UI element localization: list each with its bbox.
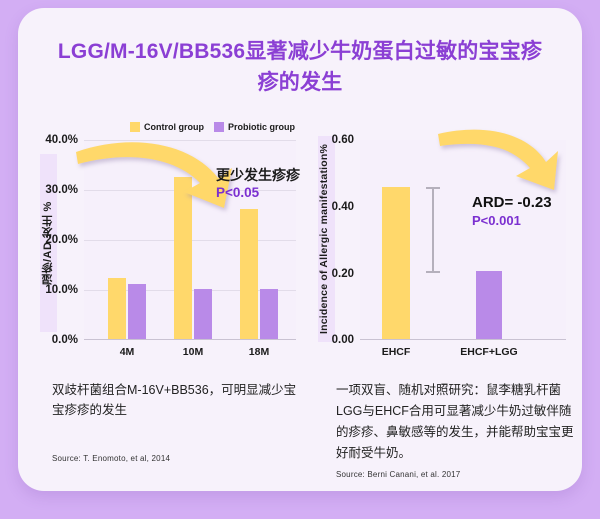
bar-control-4m [108, 278, 126, 339]
right-chart-panel: Incidence of Allergic manifestation% 0.0… [314, 120, 570, 370]
right-annotation-line1: ARD= -0.23 [472, 194, 552, 212]
right-y-axis-label: Incidence of Allergic manifestation% [318, 136, 335, 342]
y-tick-label: 0.40 [332, 201, 354, 213]
info-card: LGG/M-16V/BB536显著减少牛奶蛋白过敏的宝宝疹疹的发生 Contro… [18, 8, 582, 491]
x-axis-line [360, 339, 566, 340]
difference-bar-line [432, 187, 434, 273]
x-tick-label: EHCF [382, 346, 411, 358]
bar-ehcf [382, 187, 410, 339]
right-annotation-line2: P<0.001 [472, 212, 552, 229]
bar-ehcf-lgg [476, 271, 502, 339]
y-tick-label: 10.0% [45, 284, 78, 296]
y-tick-label: 0.00 [332, 334, 354, 346]
bar-control-18m [240, 209, 258, 339]
y-tick-label: 20.0% [45, 234, 78, 246]
left-annotation: 更少发生疹疹 P<0.05 [216, 166, 300, 201]
left-annotation-line1: 更少发生疹疹 [216, 166, 300, 184]
x-tick-label: 18M [249, 346, 269, 358]
right-annotation: ARD= -0.23 P<0.001 [472, 194, 552, 229]
left-caption-block: 双歧杆菌组合M-16V+BB536，可明显减少宝宝疹疹的发生 Source: T… [52, 380, 302, 463]
left-source-text: Source: T. Enomoto, et al, 2014 [52, 454, 302, 463]
y-tick-label: 0.0% [52, 334, 78, 346]
x-tick-label: 10M [183, 346, 203, 358]
x-tick-label: EHCF+LGG [460, 346, 517, 358]
page-title: LGG/M-16V/BB536显著减少牛奶蛋白过敏的宝宝疹疹的发生 [48, 36, 552, 98]
left-chart-panel: Control group Probiotic group 湿疹/AD 发生 %… [34, 120, 306, 370]
y-tick-label: 0.20 [332, 268, 354, 280]
left-annotation-line2: P<0.05 [216, 184, 300, 201]
difference-bar-cap-bottom [426, 271, 440, 273]
x-axis-line [84, 339, 296, 340]
bar-probiotic-18m [260, 289, 278, 339]
x-tick-label: 4M [120, 346, 135, 358]
right-caption-text: 一项双盲、随机对照研究：鼠李糖乳杆菌LGG与EHCF合用可显著减少牛奶过敏伴随的… [336, 380, 580, 464]
right-source-text: Source: Berni Canani, et al. 2017 [336, 470, 580, 479]
curved-arrow-icon [432, 120, 570, 198]
y-tick-label: 0.60 [332, 134, 354, 146]
bar-probiotic-4m [128, 284, 146, 339]
bar-probiotic-10m [194, 289, 212, 339]
left-caption-text: 双歧杆菌组合M-16V+BB536，可明显减少宝宝疹疹的发生 [52, 380, 302, 420]
right-caption-block: 一项双盲、随机对照研究：鼠李糖乳杆菌LGG与EHCF合用可显著减少牛奶过敏伴随的… [336, 380, 580, 479]
